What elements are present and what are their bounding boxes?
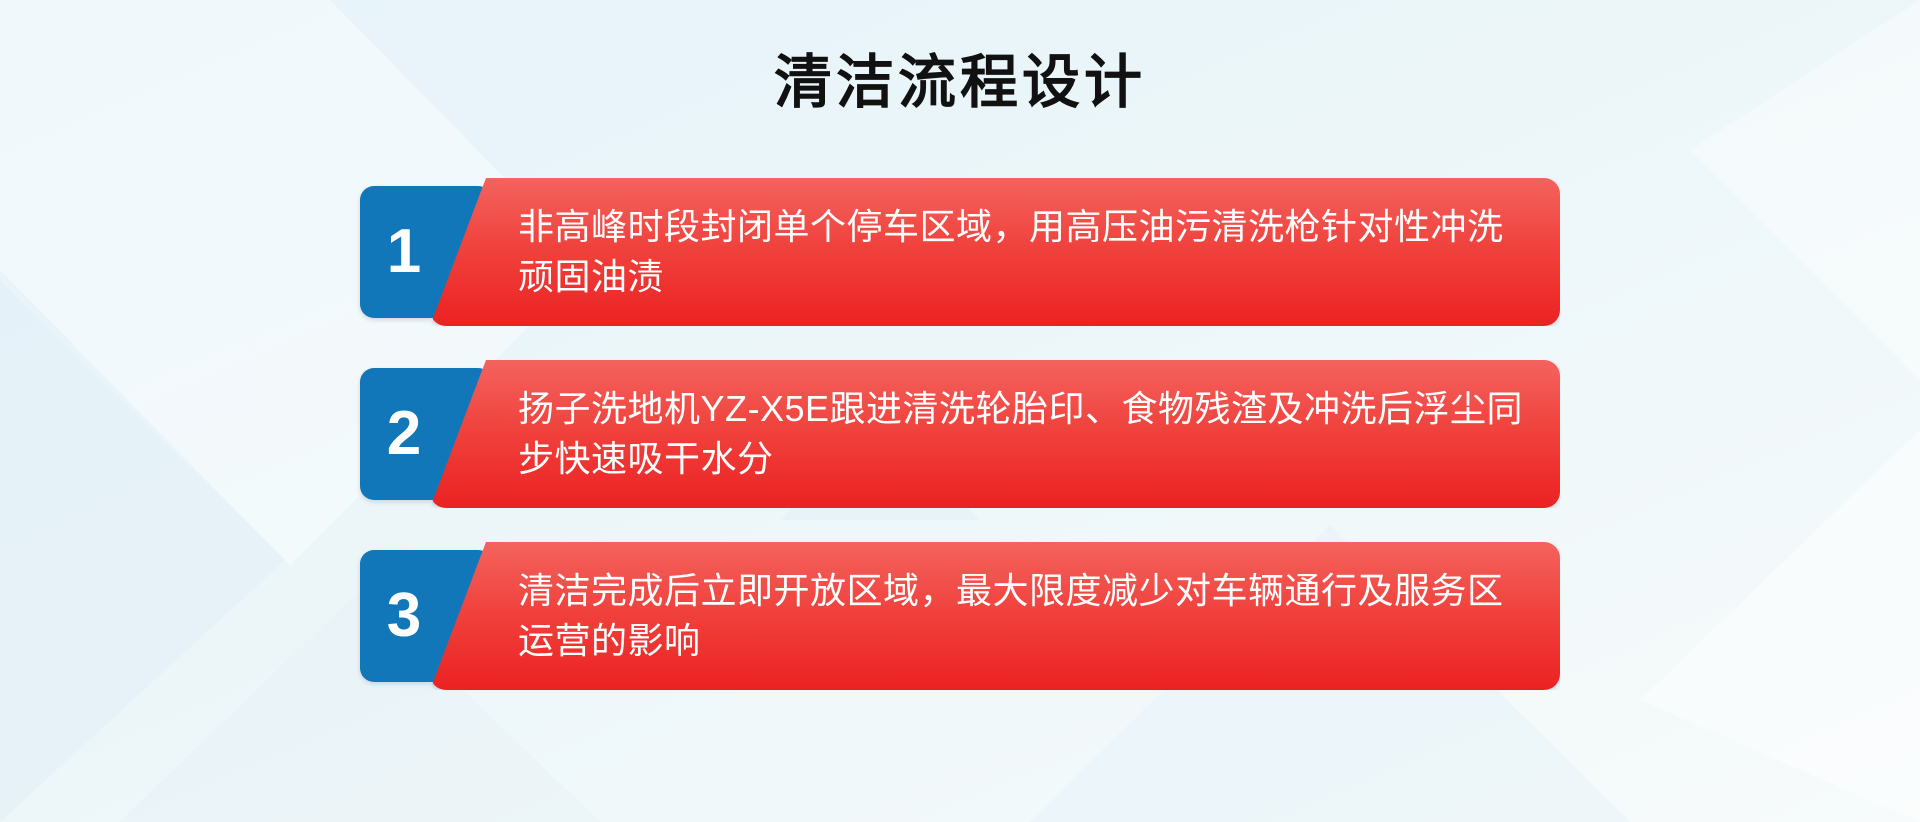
step-text: 非高峰时段封闭单个停车区域，用高压油污清洗枪针对性冲洗顽固油渍: [518, 202, 1524, 302]
step-card-2[interactable]: 扬子洗地机YZ-X5E跟进清洗轮胎印、食物残渣及冲洗后浮尘同步快速吸干水分: [430, 360, 1560, 508]
step-card-inner: 非高峰时段封闭单个停车区域，用高压油污清洗枪针对性冲洗顽固油渍: [518, 202, 1524, 302]
step-number: 1: [360, 186, 448, 318]
list-item[interactable]: 1 非高峰时段封闭单个停车区域，用高压油污清洗枪针对性冲洗顽固油渍: [0, 178, 1920, 326]
step-number: 3: [360, 550, 448, 682]
step-text: 扬子洗地机YZ-X5E跟进清洗轮胎印、食物残渣及冲洗后浮尘同步快速吸干水分: [518, 384, 1524, 484]
slide-canvas: 清洁流程设计 1 非高峰时段封闭单个停车区域，用高压油污清洗枪针对性冲洗顽固油渍…: [0, 0, 1920, 822]
list-item[interactable]: 3 清洁完成后立即开放区域，最大限度减少对车辆通行及服务区运营的影响: [0, 542, 1920, 690]
list-item[interactable]: 2 扬子洗地机YZ-X5E跟进清洗轮胎印、食物残渣及冲洗后浮尘同步快速吸干水分: [0, 360, 1920, 508]
step-card-inner: 扬子洗地机YZ-X5E跟进清洗轮胎印、食物残渣及冲洗后浮尘同步快速吸干水分: [518, 384, 1524, 484]
page-title: 清洁流程设计: [0, 44, 1920, 122]
step-text: 清洁完成后立即开放区域，最大限度减少对车辆通行及服务区运营的影响: [518, 566, 1524, 666]
step-number: 2: [360, 368, 448, 500]
step-card-3[interactable]: 清洁完成后立即开放区域，最大限度减少对车辆通行及服务区运营的影响: [430, 542, 1560, 690]
step-card-1[interactable]: 非高峰时段封闭单个停车区域，用高压油污清洗枪针对性冲洗顽固油渍: [430, 178, 1560, 326]
step-list: 1 非高峰时段封闭单个停车区域，用高压油污清洗枪针对性冲洗顽固油渍 2 扬子洗地…: [0, 178, 1920, 724]
step-card-inner: 清洁完成后立即开放区域，最大限度减少对车辆通行及服务区运营的影响: [518, 566, 1524, 666]
